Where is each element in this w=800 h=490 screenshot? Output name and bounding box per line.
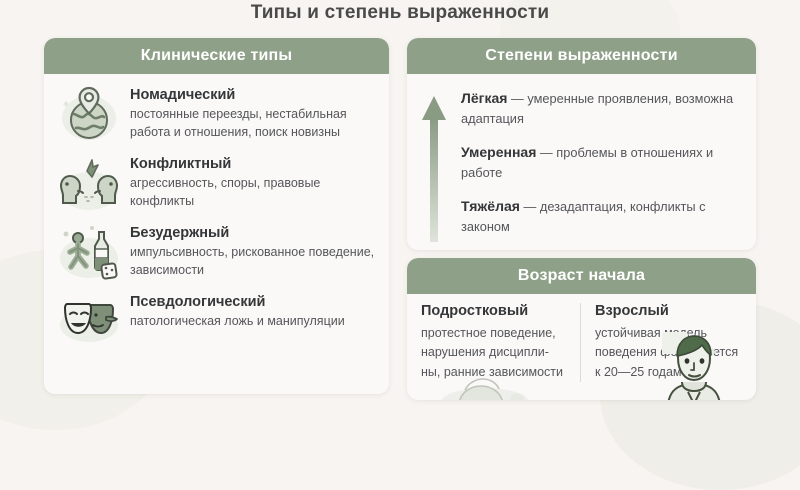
list-item: Тяжёлая — дезадаптация, конфликты с зако… xyxy=(461,196,742,236)
list-item-text: Конфликтный агрессивность, споры, правов… xyxy=(130,153,375,210)
list-item-text: Номадический постоянные переезды, нестаб… xyxy=(130,84,375,141)
arguing-heads-icon xyxy=(58,153,120,215)
adult-man-illustration xyxy=(648,330,752,400)
page-title: Типы и степень выраженности xyxy=(0,2,800,24)
severity-level: Тяжёлая xyxy=(461,198,520,214)
list-item-text: Безудержный импульсивность, рискованное … xyxy=(130,222,375,279)
running-bottle-dice-icon xyxy=(58,222,120,284)
severity-card: Степени выраженности Лёгкая xyxy=(407,38,756,250)
teen-illustration xyxy=(425,362,545,400)
age-of-onset-card: Возраст начала Подростковый протестное п… xyxy=(407,258,756,400)
up-arrow-icon xyxy=(421,88,447,249)
type-description: импульсивность, рискованное поведение, з… xyxy=(130,243,375,279)
list-item: Конфликтный агрессивность, споры, правов… xyxy=(58,153,375,215)
type-name: Безудержный xyxy=(130,224,375,242)
theater-masks-icon xyxy=(58,291,120,353)
age-column-title: Взрослый xyxy=(595,303,742,319)
clinical-types-card-body: Номадический постоянные переезды, нестаб… xyxy=(44,74,389,368)
clinical-types-card-header: Клинические типы xyxy=(44,38,389,74)
list-item: Безудержный импульсивность, рискованное … xyxy=(58,222,375,284)
severity-level: Лёгкая xyxy=(461,90,507,106)
type-description: постоянные переезды, нестабильная работа… xyxy=(130,105,375,141)
age-of-onset-card-header: Возраст начала xyxy=(407,258,756,294)
type-name: Псевдологический xyxy=(130,293,375,311)
clinical-types-card: Клинические типы Номадический постоянные… xyxy=(44,38,389,394)
list-item: Умеренная — проблемы в отношениях и рабо… xyxy=(461,142,742,182)
list-item-text: Псевдологический патологическая ложь и м… xyxy=(130,291,375,330)
list-item: Лёгкая — умеренные проявления, возможна … xyxy=(461,88,742,128)
type-description: агрессивность, споры, правовые конфликты xyxy=(130,174,375,210)
severity-level: Умеренная xyxy=(461,144,536,160)
severity-card-header: Степени выраженности xyxy=(407,38,756,74)
type-description: патологическая ложь и манипуляции xyxy=(130,312,375,330)
list-item: Номадический постоянные переезды, нестаб… xyxy=(58,84,375,146)
list-item: Псевдологический патологическая ложь и м… xyxy=(58,291,375,353)
severity-card-body: Лёгкая — умеренные проявления, возможна … xyxy=(407,74,756,250)
globe-pin-icon xyxy=(58,84,120,146)
type-name: Конфликтный xyxy=(130,155,375,173)
type-name: Номадический xyxy=(130,86,375,104)
age-column-title: Подростковый xyxy=(421,303,568,319)
